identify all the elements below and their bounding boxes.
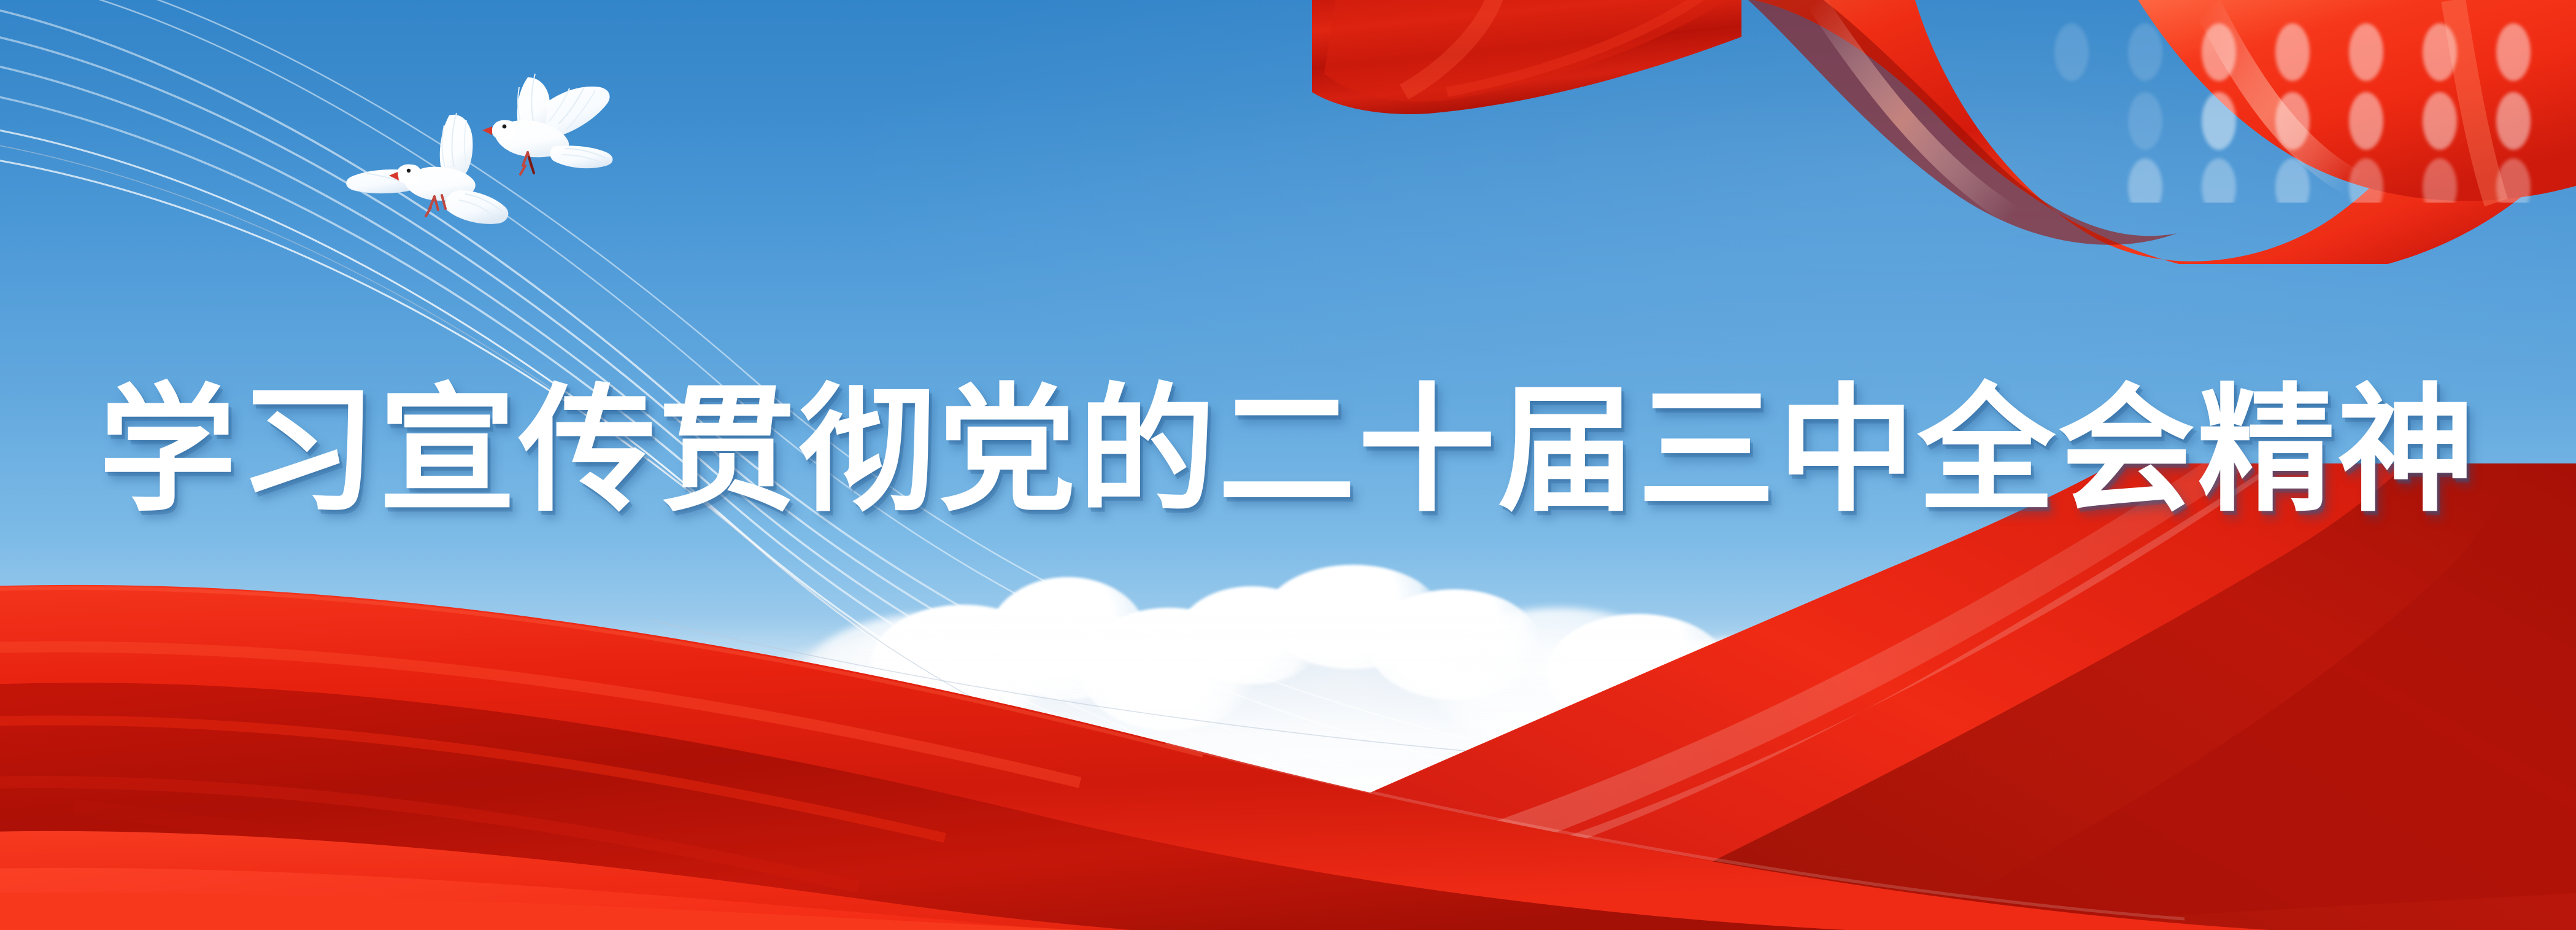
dove-right	[482, 74, 613, 174]
banner-root: 学习宣传贯彻党的二十届三中全会精神	[0, 0, 2576, 930]
doves-group	[344, 43, 632, 264]
